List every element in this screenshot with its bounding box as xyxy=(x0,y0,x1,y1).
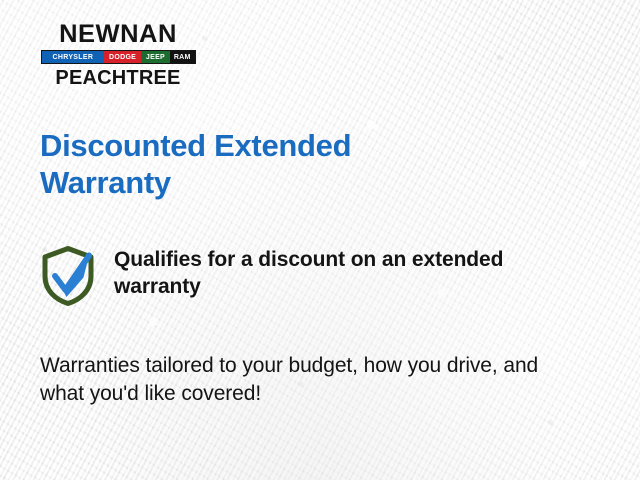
brand-badge-chrysler: CHRYSLER xyxy=(42,51,105,63)
body-paragraph: Warranties tailored to your budget, how … xyxy=(40,352,570,407)
feature-row: Qualifies for a discount on an extended … xyxy=(40,243,580,307)
brand-badge-dodge: DODGE xyxy=(104,51,141,63)
brand-badge-bar: CHRYSLER DODGE JEEP RAM xyxy=(41,50,196,64)
shield-check-icon xyxy=(40,245,96,307)
slide-content: NEWNAN CHRYSLER DODGE JEEP RAM PEACHTREE… xyxy=(0,0,640,480)
dealer-name-top: NEWNAN xyxy=(36,22,199,47)
page-title-line-1: Discounted Extended xyxy=(40,128,460,165)
dealer-logo[interactable]: NEWNAN CHRYSLER DODGE JEEP RAM PEACHTREE xyxy=(38,22,198,88)
promo-slide: NEWNAN CHRYSLER DODGE JEEP RAM PEACHTREE… xyxy=(0,0,640,480)
dealer-name-bottom: PEACHTREE xyxy=(38,68,198,88)
feature-headline: Qualifies for a discount on an extended … xyxy=(114,243,580,301)
brand-badge-jeep: JEEP xyxy=(141,51,170,63)
brand-badge-ram: RAM xyxy=(170,51,194,63)
page-title: Discounted Extended Warranty xyxy=(40,128,460,201)
page-title-line-2: Warranty xyxy=(40,165,460,202)
